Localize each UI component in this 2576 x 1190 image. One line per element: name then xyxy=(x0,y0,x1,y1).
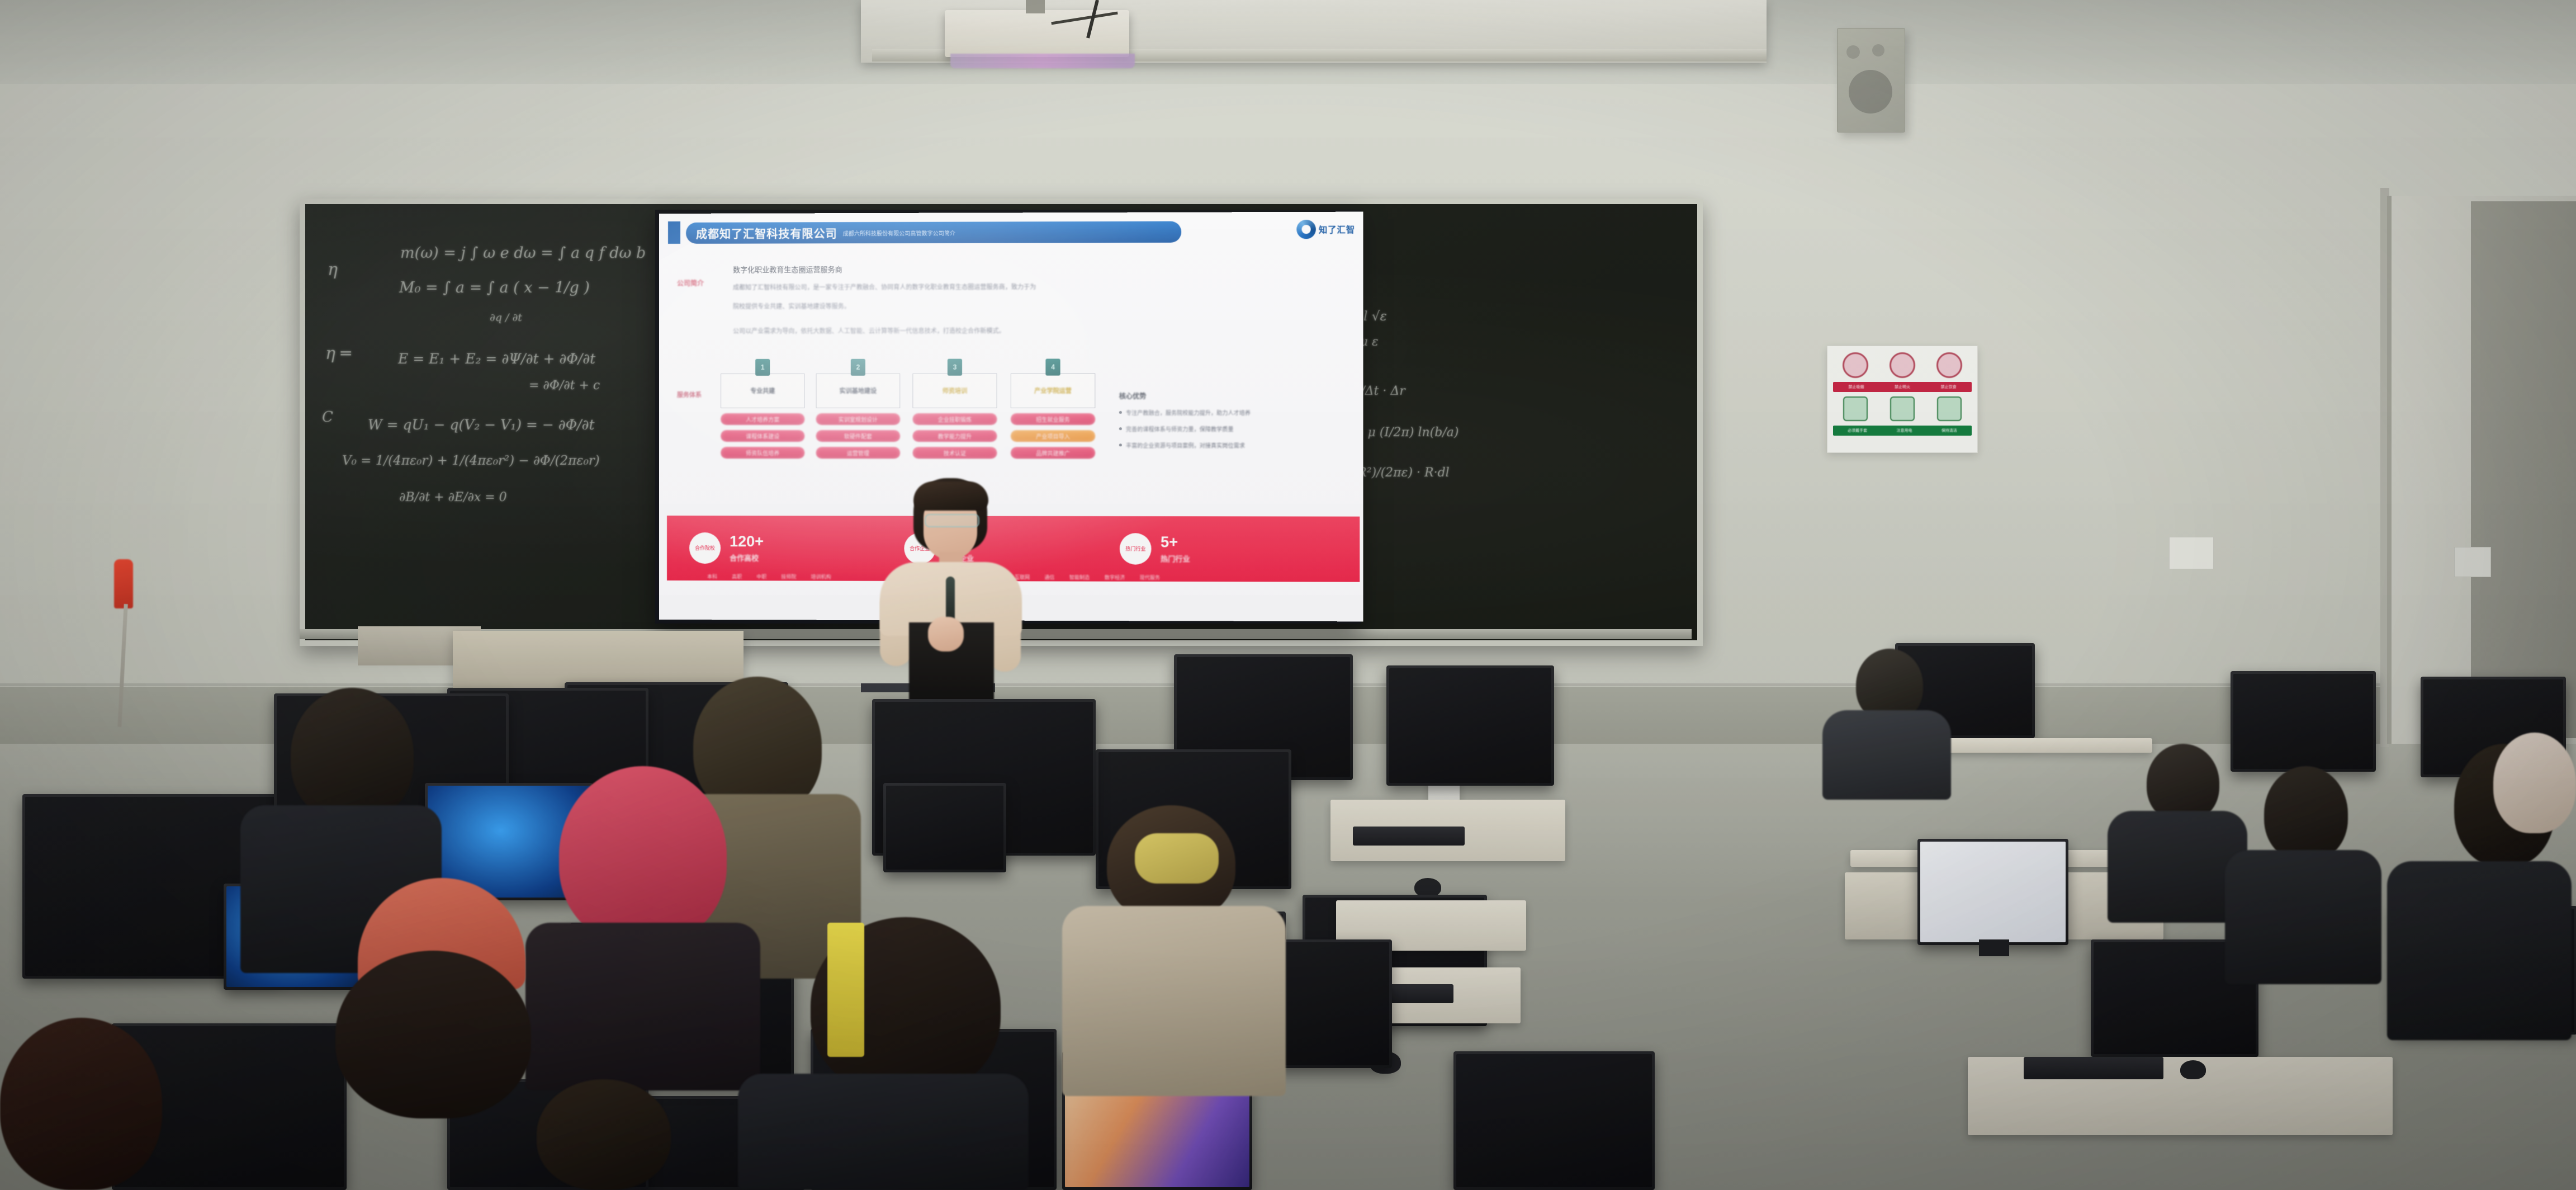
student-head xyxy=(1135,833,1219,884)
keyboard[interactable] xyxy=(1353,827,1465,846)
column-item: 课程体系建设 xyxy=(721,430,804,442)
monitor[interactable] xyxy=(883,783,1006,872)
gloves-icon xyxy=(1843,396,1868,421)
projector-lens-glow xyxy=(950,54,1135,68)
column-item: 品牌共建推广 xyxy=(1011,447,1096,459)
column-item: 人才培养方案 xyxy=(721,413,804,425)
prohibition-icon-row xyxy=(1832,351,1973,380)
mouse[interactable] xyxy=(2180,1060,2206,1079)
swirl-logo-icon xyxy=(1296,220,1316,239)
bullet-dot-icon xyxy=(1119,411,1122,414)
column-item: 产业项目导入 xyxy=(1011,430,1096,442)
slide-heading: 数字化职业教育生态圈运营服务商 xyxy=(733,263,842,274)
column-item: 实训室规划设计 xyxy=(816,413,901,425)
student-head xyxy=(2493,733,2576,833)
column-group: 3 师资培训 企业挂职锻炼 教学能力提升 技术认证 xyxy=(912,374,997,459)
footnote: 本科 xyxy=(707,573,717,580)
monitor[interactable] xyxy=(1453,1051,1655,1190)
company-logo: 知了汇智 xyxy=(1296,220,1355,239)
stat-icon: 热门行业 xyxy=(1120,533,1152,564)
safety-sign-board: 禁止吸烟 禁止明火 禁止饮食 必须戴手套 注意用电 保持清洁 xyxy=(1827,346,1978,453)
no-smoking-icon xyxy=(1843,352,1868,378)
keep-clean-icon xyxy=(1937,396,1962,421)
sign-label: 禁止明火 xyxy=(1895,384,1910,390)
sign-label: 禁止吸烟 xyxy=(1848,384,1864,390)
service-system-label: 服务体系 xyxy=(677,390,702,399)
allowed-icon-row xyxy=(1832,394,1973,423)
column-box: 专业共建 xyxy=(721,374,804,408)
bullet-item: 完善的课程体系与师资力量，保障教学质量 xyxy=(1119,424,1261,433)
student-body xyxy=(525,923,760,1090)
footnote: 高职 xyxy=(732,573,742,580)
column-item: 教学能力提升 xyxy=(912,430,997,442)
column-number-badge: 2 xyxy=(851,359,865,376)
footnote: 数字经济 xyxy=(1105,573,1125,580)
stat-item: 热门行业 5+ 热门行业 xyxy=(1120,533,1337,565)
projector-mount xyxy=(1026,0,1045,13)
title-accent-bar xyxy=(668,221,680,244)
column-group: 2 实训基地建设 实训室规划设计 软硬件配套 运营管理 xyxy=(816,374,901,459)
wall-outlet[interactable] xyxy=(2169,537,2214,569)
column-group: 1 专业共建 人才培养方案 课程体系建设 师资队伍培养 xyxy=(721,374,804,459)
slide-title: 成都知了汇智科技有限公司 xyxy=(696,225,837,242)
no-open-flame-icon xyxy=(1890,352,1915,378)
ceiling-projector-icon xyxy=(945,10,1129,57)
no-eating-icon xyxy=(1936,352,1962,378)
column-box-label: 师资培训 xyxy=(943,386,967,395)
logo-text: 知了汇智 xyxy=(1319,223,1355,235)
slide-paragraph: 公司以产业需求为导向，依托大数据、人工智能、云计算等新一代信息技术，打造校企合作… xyxy=(733,327,1005,337)
stat-label: 合作高校 xyxy=(730,552,764,563)
mop-handle xyxy=(117,604,128,727)
student-body xyxy=(2225,850,2381,984)
student-head xyxy=(2147,744,2219,822)
footnote: 智能制造 xyxy=(1069,573,1090,580)
column-item: 技术认证 xyxy=(912,447,997,459)
slide-paragraph: 成都知了汇智科技有限公司，是一家专注于产教融合、协同育人的数字化职业教育生态圈运… xyxy=(733,284,1036,293)
slide-paragraph: 院校提供专业共建、实训基地建设等服务。 xyxy=(733,303,850,311)
electricity-warning-icon xyxy=(1890,396,1915,421)
footnote: 中职 xyxy=(756,573,766,580)
monitor[interactable] xyxy=(1917,839,2068,945)
water-bottle xyxy=(827,923,864,1057)
slide-subtitle: 成都六所科技股份有限公司高管数字公司简介 xyxy=(843,228,955,237)
column-number-badge: 4 xyxy=(1045,358,1060,375)
stat-number: 120+ xyxy=(730,534,764,549)
bullet-text: 完善的课程体系与师资力量，保障教学质量 xyxy=(1126,424,1234,433)
allowed-label-bar: 必须戴手套 注意用电 保持清洁 xyxy=(1833,426,1972,436)
stat-icon: 合作院校 xyxy=(689,532,721,564)
stat-number: 5+ xyxy=(1161,535,1190,550)
footnote: 通信 xyxy=(1044,573,1054,580)
column-box-label: 专业共建 xyxy=(750,386,775,395)
student-head xyxy=(537,1079,671,1190)
bullet-list-title: 核心优势 xyxy=(1119,391,1261,401)
presenter-hands xyxy=(928,617,964,651)
column-item: 企业挂职锻炼 xyxy=(912,413,997,425)
bullet-item: 丰富的企业资源与项目案例，对接真实岗位需求 xyxy=(1119,441,1261,449)
prohibition-label-bar: 禁止吸烟 禁止明火 禁止饮食 xyxy=(1833,382,1972,392)
column-item: 招生就业服务 xyxy=(1011,413,1096,425)
monitor-stand xyxy=(1979,939,2009,956)
red-mop xyxy=(111,559,134,727)
bullet-dot-icon xyxy=(1119,427,1122,430)
keyboard[interactable] xyxy=(2024,1057,2163,1079)
section-label: 公司简介 xyxy=(677,278,704,288)
mop-head xyxy=(114,559,133,608)
door-panel-shadow xyxy=(2471,201,2576,738)
classroom-scene: m(ω) = j ∫ ω e dω = ∫ a q f dω b M₀ = ∫ … xyxy=(0,0,2576,1190)
sign-label: 保持清洁 xyxy=(1942,428,1957,433)
student-body xyxy=(2387,861,2572,1040)
bullet-dot-icon xyxy=(1119,443,1122,446)
student-body xyxy=(738,1074,1029,1190)
sign-label: 注意用电 xyxy=(1896,428,1912,433)
wall-outlet[interactable] xyxy=(2454,547,2491,577)
student-head xyxy=(559,766,727,945)
presenter-fringe xyxy=(913,481,988,511)
slide-title-bar: 成都知了汇智科技有限公司 成都六所科技股份有限公司高管数字公司简介 xyxy=(686,221,1181,244)
column-item: 软硬件配套 xyxy=(816,430,901,442)
student-body xyxy=(1822,710,1951,800)
column-item: 师资队伍培养 xyxy=(721,447,804,459)
student-head xyxy=(2264,766,2348,861)
column-group: 4 产业学院运营 招生就业服务 产业项目导入 品牌共建推广 xyxy=(1011,374,1096,459)
column-number-badge: 1 xyxy=(755,359,770,376)
sign-label: 必须戴手套 xyxy=(1848,428,1867,433)
bullet-item: 专注产教融合，服务院校能力提升，助力人才培养 xyxy=(1119,408,1261,417)
student-body xyxy=(1062,906,1286,1096)
bullet-text: 专注产教融合，服务院校能力提升，助力人才培养 xyxy=(1126,408,1251,417)
column-box: 产业学院运营 xyxy=(1011,374,1096,408)
presenter xyxy=(855,478,1045,707)
column-box: 师资培训 xyxy=(912,374,997,408)
student-hair xyxy=(335,951,531,1118)
stat-label: 热门行业 xyxy=(1161,552,1190,563)
bullet-text: 丰富的企业资源与项目案例，对接真实岗位需求 xyxy=(1126,441,1245,449)
footnote: 培训机构 xyxy=(811,573,831,580)
column-box-label: 产业学院运营 xyxy=(1034,386,1072,395)
mouse[interactable] xyxy=(1414,878,1441,897)
column-box-label: 实训基地建设 xyxy=(840,386,877,395)
glasses-icon xyxy=(925,514,979,527)
column-box: 实训基地建设 xyxy=(816,374,901,408)
monitor[interactable] xyxy=(1386,665,1554,786)
student-head xyxy=(291,688,414,822)
sign-label: 禁止饮食 xyxy=(1941,384,1957,390)
footnote: 技师院 xyxy=(781,573,796,580)
bullet-list: 核心优势 专注产教融合，服务院校能力提升，助力人才培养 完善的课程体系与师资力量… xyxy=(1119,391,1261,457)
column-number-badge: 3 xyxy=(948,359,962,376)
column-item: 运营管理 xyxy=(816,447,901,459)
wall-speaker-icon xyxy=(1837,28,1905,133)
monitor[interactable] xyxy=(2231,671,2376,772)
student-head xyxy=(0,1018,162,1190)
footnote: 现代服务 xyxy=(1139,573,1159,580)
